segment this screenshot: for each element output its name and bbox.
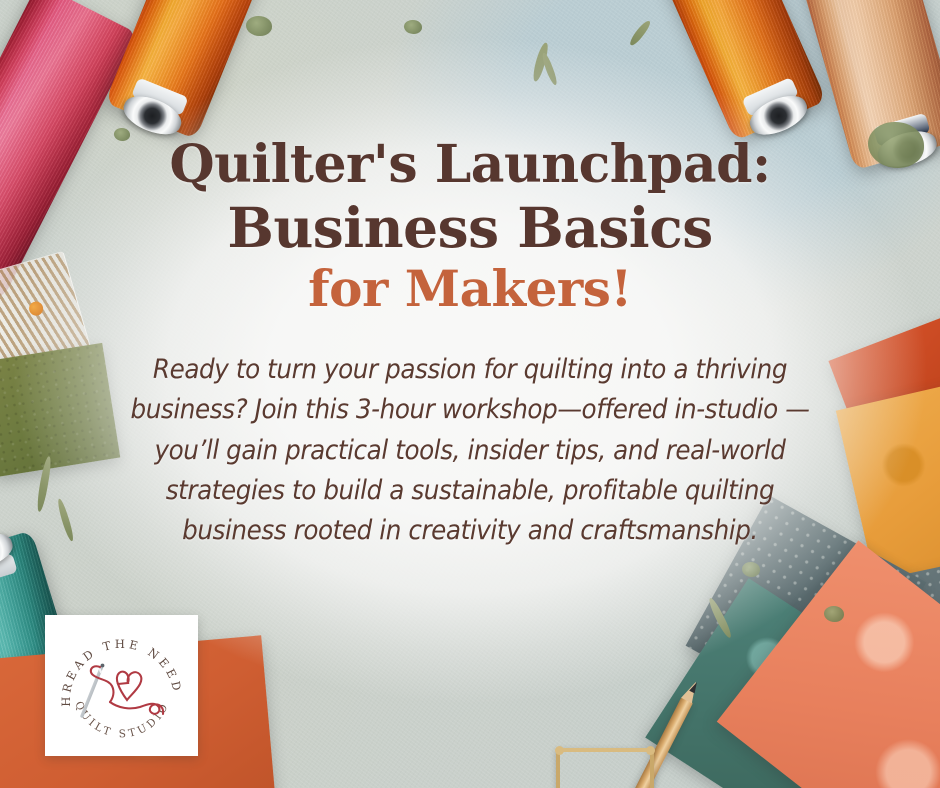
promo-poster: Quilter's Launchpad: Business Basics for… <box>0 0 940 788</box>
title-line-primary: Quilter's Launchpad: <box>40 138 900 191</box>
thread-the-needle-logo-icon: THREAD THE NEEDLE QUILT STUDIO <box>56 624 188 748</box>
thread-heart-icon <box>90 666 162 714</box>
title-line-accent: for Makers! <box>40 263 900 314</box>
brand-logo-card: THREAD THE NEEDLE QUILT STUDIO <box>45 615 198 756</box>
workshop-description: Ready to turn your passion for quilting … <box>126 350 814 551</box>
page-title: Quilter's Launchpad: Business Basics for… <box>40 138 900 314</box>
title-line-secondary: Business Basics <box>40 200 900 256</box>
logo-arc-top-text: THREAD THE NEEDLE <box>56 624 185 707</box>
needle-icon <box>82 663 104 715</box>
